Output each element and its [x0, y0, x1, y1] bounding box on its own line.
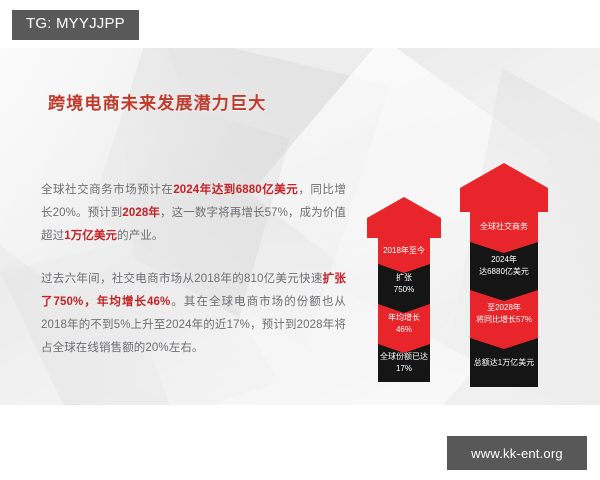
- arrow-notch-icon: [470, 290, 538, 301]
- arrow-segment: 2024年 达6880亿美元: [470, 242, 538, 290]
- arrow-tip-icon: [460, 163, 548, 188]
- arrow-notch-icon: [378, 264, 430, 273]
- arrow-head-right: [460, 188, 548, 212]
- paragraph-text: 全球社交商务市场预计在: [41, 184, 173, 196]
- highlight-2028-year: 2028年: [122, 207, 160, 219]
- arrow-segment-line: 达6880亿美元: [479, 266, 529, 278]
- highlight-2024-value: 2024年达到6880亿美元: [173, 184, 298, 196]
- arrow-segment-line: 17%: [396, 363, 412, 375]
- page-title: 跨境电商未来发展潜力巨大: [48, 89, 266, 114]
- paragraph-text: 过去六年间，社交电商市场从2018年的810亿美元快速: [41, 273, 323, 285]
- arrow-segment-line: 总额达1万亿美元: [474, 357, 534, 369]
- arrow-segment-line: 2024年: [491, 254, 517, 266]
- arrow-head-label-segment: 2018年至今: [378, 238, 430, 264]
- arrow-head-left: [367, 218, 441, 238]
- arrow-segment-line: 扩张: [396, 272, 412, 284]
- arrow-body-left: 2018年至今 扩张 750% 年均增长 46% 全球份额已达 17%: [378, 238, 430, 382]
- arrow-notch-icon: [470, 242, 538, 253]
- site-watermark: www.kk-ent.org: [447, 436, 587, 470]
- arrow-notch-icon: [378, 344, 430, 353]
- arrow-body-right: 全球社交商务 2024年 达6880亿美元 至2028年 将同比增长57% 总额…: [470, 212, 538, 387]
- arrow-segment: 至2028年 将同比增长57%: [470, 290, 538, 338]
- arrow-segment-line: 将同比增长57%: [476, 314, 532, 326]
- slide-canvas: TG: MYYJJPP 跨境电商未来发展潜力巨大 全球社交商务市场预计在2024…: [0, 0, 600, 480]
- background-facet: [0, 48, 220, 298]
- arrow-segment: 全球份额已达 17%: [378, 344, 430, 382]
- arrow-segment: 总额达1万亿美元: [470, 338, 538, 387]
- social-commerce-growth-arrow: 2018年至今 扩张 750% 年均增长 46% 全球份额已达 17%: [367, 218, 441, 382]
- arrow-tip-icon: [367, 197, 441, 218]
- arrow-segment-line: 全球社交商务: [480, 221, 528, 233]
- arrow-notch-icon: [470, 338, 538, 349]
- arrow-segment-line: 750%: [394, 284, 414, 296]
- arrow-segment-line: 至2028年: [487, 302, 521, 314]
- arrow-segment-line: 年均增长: [388, 312, 420, 324]
- arrow-segment-line: 46%: [396, 324, 412, 336]
- arrow-head-label-segment: 全球社交商务: [470, 212, 538, 242]
- paragraph-text: 的产业。: [117, 230, 163, 242]
- telegram-handle-badge: TG: MYYJJPP: [12, 10, 139, 40]
- paragraph-historic-growth: 过去六年间，社交电商市场从2018年的810亿美元快速扩张了750%，年均增长4…: [41, 268, 346, 360]
- arrow-segment-line: 2018年至今: [383, 245, 425, 257]
- social-commerce-forecast-arrow: 全球社交商务 2024年 达6880亿美元 至2028年 将同比增长57% 总额…: [460, 188, 548, 387]
- arrow-notch-icon: [378, 304, 430, 313]
- arrow-segment: 扩张 750%: [378, 264, 430, 304]
- paragraph-market-forecast: 全球社交商务市场预计在2024年达到6880亿美元，同比增长20%。预计到202…: [41, 179, 346, 248]
- arrow-segment: 年均增长 46%: [378, 304, 430, 344]
- highlight-trillion-value: 1万亿美元: [64, 230, 117, 242]
